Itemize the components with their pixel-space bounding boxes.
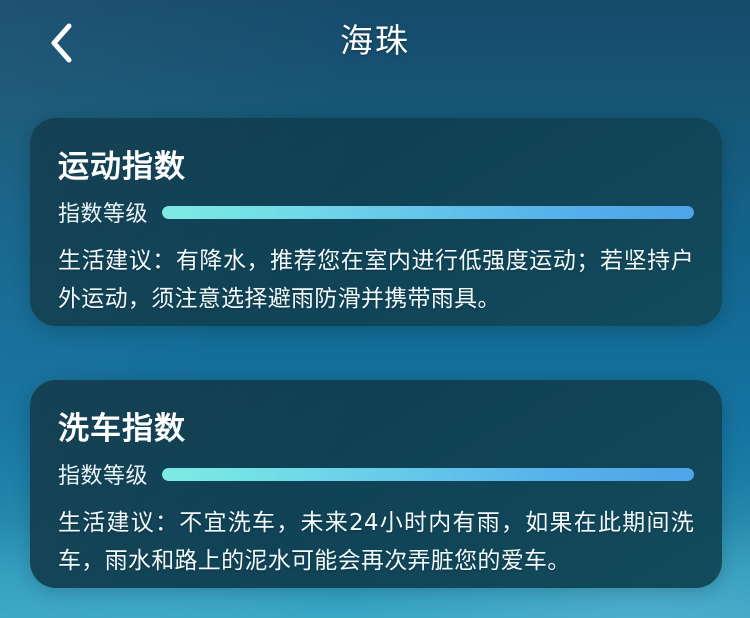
- index-card-carwash[interactable]: 洗车指数 指数等级 生活建议：不宜洗车，未来24小时内有雨，如果在此期间洗车，雨…: [30, 380, 722, 588]
- advice-text: 生活建议：有降水，推荐您在室内进行低强度运动；若坚持户外运动，须注意选择避雨防滑…: [58, 242, 694, 318]
- level-row: 指数等级: [58, 458, 694, 490]
- level-fill: [162, 206, 694, 219]
- page-title: 海珠: [0, 18, 750, 64]
- index-card-list: 运动指数 指数等级 生活建议：有降水，推荐您在室内进行低强度运动；若坚持户外运动…: [0, 92, 750, 618]
- level-row: 指数等级: [58, 196, 694, 228]
- index-card-sports[interactable]: 运动指数 指数等级 生活建议：有降水，推荐您在室内进行低强度运动；若坚持户外运动…: [30, 118, 722, 326]
- card-title: 运动指数: [58, 148, 694, 186]
- card-title: 洗车指数: [58, 410, 694, 448]
- level-track: [162, 206, 694, 219]
- level-label: 指数等级: [58, 458, 148, 490]
- level-fill: [162, 468, 694, 481]
- level-label: 指数等级: [58, 196, 148, 228]
- level-track: [162, 468, 694, 481]
- advice-text: 生活建议：不宜洗车，未来24小时内有雨，如果在此期间洗车，雨水和路上的泥水可能会…: [58, 504, 694, 580]
- app-header: 海珠: [0, 0, 750, 92]
